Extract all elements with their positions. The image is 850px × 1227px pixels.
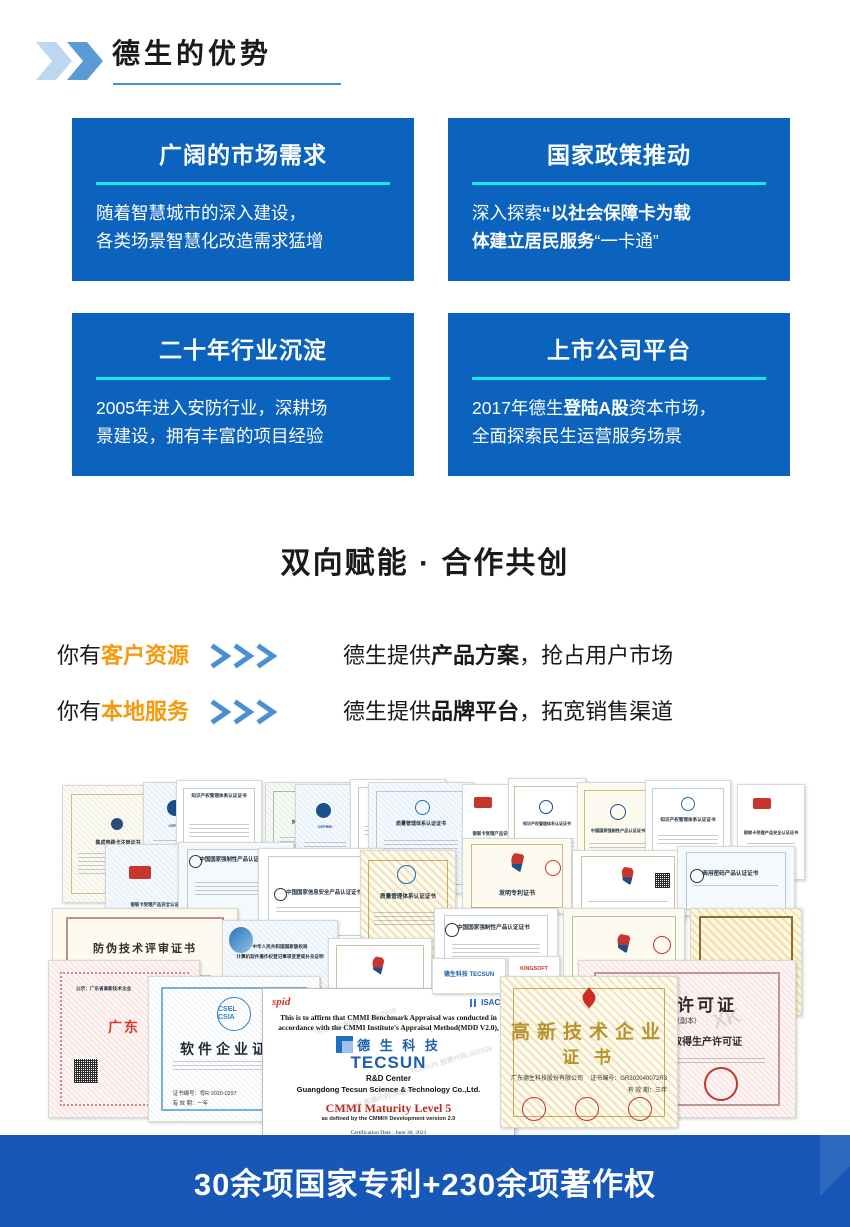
card-divider xyxy=(96,182,390,185)
valid-row: 有 效 期：一年 xyxy=(173,1099,208,1107)
card-body-line: 各类场景智慧化改造需求猛增 xyxy=(96,227,390,255)
csel-badge: CSEL CSIA xyxy=(217,997,251,1031)
text-plain: ，拓宽销售渠道 xyxy=(519,699,673,724)
card-title: 广阔的市场需求 xyxy=(96,140,390,170)
dual-empower-rows: 你有客户资源 德生提供产品方案，抢占用户市场 你有本地服务 xyxy=(0,628,850,740)
cert-no-row: 证书编号：粤R-2020-0297 xyxy=(173,1089,237,1097)
cert-no-value: 粤R-2020-0297 xyxy=(200,1091,237,1097)
card-body-line: 深入探索“以社会保障卡为载 xyxy=(472,199,766,227)
rd-center: R&D Center xyxy=(263,1074,514,1083)
certificate-label: 德生科技 TECSUN xyxy=(433,969,505,978)
row-left-text: 你有客户资源 xyxy=(57,641,189,671)
defined-by: as defined by the CMMI® Development vers… xyxy=(263,1116,514,1122)
card-body-line: 全面探索民生运营服务场景 xyxy=(472,422,766,450)
csel-badge-text: CSEL CSIA xyxy=(218,1006,250,1022)
card-body-line: 体建立居民服务“一卡通” xyxy=(472,227,766,255)
certificate-label: KINGSOFT xyxy=(509,966,559,972)
card-body-line: 2005年进入安防行业，深耕场 xyxy=(96,394,390,422)
tecsun-brand-en: TECSUN xyxy=(263,1053,514,1073)
certificate-label: 知识产权管理体系认证证书 xyxy=(509,821,585,827)
page-title: 德生的优势 xyxy=(112,34,272,74)
certificate-thumb: 发明专利证书 xyxy=(462,838,572,914)
certificate-thumb: 德生科技 TECSUN xyxy=(432,958,506,994)
card-divider xyxy=(96,377,390,380)
certificate-label: 质量管理体系认证证书 xyxy=(361,892,455,900)
title-underline xyxy=(113,83,341,85)
official-seal-icon xyxy=(628,1097,652,1121)
card-body-line: 景建设，拥有丰富的项目经验 xyxy=(96,422,390,450)
advantage-card-market-demand[interactable]: 广阔的市场需求 随着智慧城市的深入建设， 各类场景智慧化改造需求猛增 xyxy=(72,118,414,281)
text-bold: 体建立居民服务 xyxy=(472,231,595,251)
card-body: 随着智慧城市的深入建设， 各类场景智慧化改造需求猛增 xyxy=(96,199,390,255)
certificate-label: 商用密码产品认证证书 xyxy=(702,869,790,877)
text-plain: 资本市场， xyxy=(629,398,717,418)
text-plain: ，抢占用户市场 xyxy=(519,643,673,668)
certificate-cmmi-level5: spid ISACA This is to affirm that CMMI B… xyxy=(262,988,515,1135)
footer-decoration xyxy=(820,1135,850,1227)
cmmi-affirmation: This is to affirm that CMMI Benchmark Ap… xyxy=(271,1013,506,1033)
valid-label: 有 效 期： xyxy=(628,1088,655,1094)
text-plain: 你有 xyxy=(57,697,101,727)
page-root: 德生的优势 广阔的市场需求 随着智慧城市的深入建设， 各类场景智慧化改造需求猛增… xyxy=(0,0,850,1227)
official-seal-icon xyxy=(522,1097,546,1121)
valid-label: 有 效 期： xyxy=(173,1101,198,1107)
certificate-label: 防伪技术评审证书 xyxy=(53,940,237,956)
cert-no-label: 证书编号： xyxy=(590,1076,620,1082)
certificate-label: 银联卡受理产品安全认证证书 xyxy=(738,830,804,836)
card-body: 深入探索“以社会保障卡为载 体建立居民服务“一卡通” xyxy=(472,199,766,255)
cert-no-label: 证书编号： xyxy=(173,1091,200,1097)
certificate-meta: 广东德生科技股份有限公司 证书编号：GR202040072R3 xyxy=(511,1073,667,1082)
row-left-text: 你有本地服务 xyxy=(57,697,189,727)
certificate-collage: 集成电路卡注册证书 CEPREI 知识产权管理体系认证证书 环境管理体系认证证书… xyxy=(0,760,850,1135)
text-plain: 2017年德生 xyxy=(472,398,563,418)
dual-empower-title: 双向赋能 · 合作共创 xyxy=(0,543,850,585)
certificate-title-line1: 高新技术企业 xyxy=(501,1017,677,1044)
text-bold: “以社会保障卡为载 xyxy=(542,203,691,223)
dual-empower-row-local-service: 你有本地服务 德生提供品牌平台，拓宽销售渠道 xyxy=(0,684,850,740)
certificate-label: 计算机软件著作权登记事项变更或补充证明 xyxy=(223,954,337,960)
text-bold: 品牌平台 xyxy=(431,699,519,724)
tecsun-mark-icon xyxy=(336,1036,353,1053)
certificate-label: 发明专利证书 xyxy=(463,888,571,897)
double-chevron-icon xyxy=(34,39,104,83)
card-body: 2017年德生登陆A股资本市场， 全面探索民生运营服务场景 xyxy=(472,394,766,450)
isaca-mark-icon xyxy=(470,999,478,1007)
valid-value: 三年 xyxy=(655,1088,667,1094)
advantage-card-national-policy[interactable]: 国家政策推动 深入探索“以社会保障卡为载 体建立居民服务“一卡通” xyxy=(448,118,790,281)
card-body-line: 2017年德生登陆A股资本市场， xyxy=(472,394,766,422)
tecsun-logo: 德 生 科 技 xyxy=(263,1035,514,1054)
cert-no-value: GR202040072R3 xyxy=(620,1076,667,1082)
certificate-label: 质量管理体系认证证书 xyxy=(369,820,473,827)
card-title: 二十年行业沉淀 xyxy=(96,335,390,365)
affirm-line: accordance with the CMMI Institute's App… xyxy=(271,1023,506,1033)
spid-logo: spid xyxy=(272,996,290,1008)
certificate-label: 中华人民共和国国家版权局 xyxy=(223,944,337,950)
footer-banner: 30余项国家专利+230余项著作权 xyxy=(0,1135,850,1227)
triple-chevron-right-icon xyxy=(210,699,286,725)
text-bold: 产品方案 xyxy=(431,643,519,668)
official-seal-icon xyxy=(575,1097,599,1121)
flame-icon xyxy=(578,986,600,1010)
text-highlight: 本地服务 xyxy=(101,697,189,727)
text-plain: 德生提供 xyxy=(343,643,431,668)
card-body: 2005年进入安防行业，深耕场 景建设，拥有丰富的项目经验 xyxy=(96,394,390,450)
dual-empower-row-customer-resource: 你有客户资源 德生提供产品方案，抢占用户市场 xyxy=(0,628,850,684)
advantage-card-listed-company[interactable]: 上市公司平台 2017年德生登陆A股资本市场， 全面探索民生运营服务场景 xyxy=(448,313,790,476)
card-divider xyxy=(472,182,766,185)
advantage-card-twenty-years[interactable]: 二十年行业沉淀 2005年进入安防行业，深耕场 景建设，拥有丰富的项目经验 xyxy=(72,313,414,476)
text-plain: 德生提供 xyxy=(343,699,431,724)
card-title: 上市公司平台 xyxy=(472,335,766,365)
valid-value: 一年 xyxy=(197,1101,208,1107)
certificate-thumb: 商用密码产品认证证书 xyxy=(677,846,795,916)
card-divider xyxy=(472,377,766,380)
valid-row: 有 效 期：三年 xyxy=(628,1085,667,1094)
card-body-line: 随着智慧城市的深入建设， xyxy=(96,199,390,227)
footer-text: 30余项国家专利+230余项著作权 xyxy=(194,1159,656,1204)
company-name: 广东德生科技股份有限公司 xyxy=(511,1073,583,1082)
company-name: Guangdong Tecsun Science & Technology Co… xyxy=(263,1085,514,1094)
maturity-level: CMMI Maturity Level 5 xyxy=(263,1101,514,1116)
advantage-card-grid: 广阔的市场需求 随着智慧城市的深入建设， 各类场景智慧化改造需求猛增 国家政策推… xyxy=(72,118,790,476)
text-bold: 登陆A股 xyxy=(563,398,628,418)
triple-chevron-right-icon xyxy=(210,643,286,669)
text-plain: “一卡通” xyxy=(595,231,659,251)
cert-no-row: 证书编号：GR202040072R3 xyxy=(590,1073,667,1082)
certificate-label: 知识产权管理体系认证证书 xyxy=(177,793,261,799)
card-title: 国家政策推动 xyxy=(472,140,766,170)
row-right-text: 德生提供品牌平台，拓宽销售渠道 xyxy=(343,697,673,727)
text-plain: 深入探索 xyxy=(472,203,542,223)
affirm-line: This is to affirm that CMMI Benchmark Ap… xyxy=(271,1013,506,1023)
section-header: 德生的优势 xyxy=(0,34,850,94)
text-plain: 你有 xyxy=(57,641,101,671)
certificate-label: 知识产权管理体系认证证书 xyxy=(646,817,730,823)
certificate-label: 中国国家强制性产品认证证书 xyxy=(457,923,553,931)
row-right-text: 德生提供产品方案，抢占用户市场 xyxy=(343,641,673,671)
certificate-hitech-enterprise: 高新技术企业 证 书 广东德生科技股份有限公司 证书编号：GR202040072… xyxy=(500,976,678,1128)
tecsun-brand-cn: 德 生 科 技 xyxy=(357,1035,441,1054)
certificate-label: CEPREI xyxy=(296,824,354,829)
certificate-title-line2: 证 书 xyxy=(501,1043,677,1068)
text-highlight: 客户资源 xyxy=(101,641,189,671)
